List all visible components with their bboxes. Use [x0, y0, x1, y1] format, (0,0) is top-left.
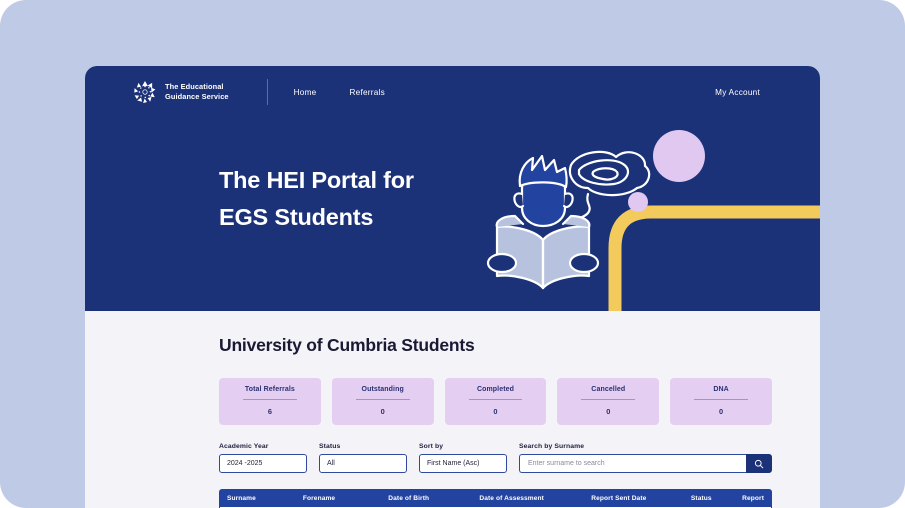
table-header-row: Surname Forename Date of Birth Date of A…	[219, 489, 772, 507]
stat-label: Total Referrals	[229, 386, 311, 393]
status-label: Status	[319, 443, 407, 450]
academic-year-label: Academic Year	[219, 443, 307, 450]
stat-divider	[243, 399, 297, 400]
search-field: Search by Surname Enter surname to searc…	[519, 443, 772, 473]
stat-value: 0	[455, 407, 537, 416]
stat-value: 0	[342, 407, 424, 416]
column-header-surname[interactable]: Surname	[227, 495, 303, 502]
search-button[interactable]	[746, 454, 772, 473]
stat-label: Outstanding	[342, 386, 424, 393]
nav-link-home[interactable]: Home	[294, 88, 317, 97]
stat-card-completed: Completed 0	[445, 378, 547, 425]
stat-label: Cancelled	[567, 386, 649, 393]
search-input[interactable]: Enter surname to search	[519, 454, 746, 473]
stat-card-cancelled: Cancelled 0	[557, 378, 659, 425]
stat-value: 0	[567, 407, 649, 416]
column-header-report[interactable]: Report	[742, 495, 764, 502]
academic-year-select[interactable]: 2024 -2025	[219, 454, 307, 473]
brand-logo-group[interactable]: The Educational Guidance Service	[132, 79, 229, 105]
stat-label: DNA	[680, 386, 762, 393]
column-header-report-sent-date[interactable]: Report Sent Date	[591, 495, 691, 502]
filters-row: Academic Year 2024 -2025 Status All Sort…	[219, 443, 772, 473]
hero-banner: The Educational Guidance Service Home Re…	[85, 66, 820, 311]
sort-by-field: Sort by First Name (Asc)	[419, 443, 507, 473]
nav-divider	[267, 79, 268, 105]
person-reading-book-illustration	[475, 124, 665, 311]
column-header-forename[interactable]: Forename	[303, 495, 388, 502]
stat-value: 0	[680, 407, 762, 416]
stat-card-dna: DNA 0	[670, 378, 772, 425]
stat-divider	[581, 399, 635, 400]
status-select[interactable]: All	[319, 454, 407, 473]
search-group: Enter surname to search	[519, 454, 772, 473]
stats-row: Total Referrals 6 Outstanding 0 Complete…	[219, 378, 772, 425]
status-field: Status All	[319, 443, 407, 473]
stat-card-total-referrals: Total Referrals 6	[219, 378, 321, 425]
content-area: University of Cumbria Students Total Ref…	[85, 311, 820, 508]
sort-by-label: Sort by	[419, 443, 507, 450]
search-icon	[754, 459, 764, 469]
starburst-logo-icon	[132, 79, 158, 105]
stat-card-outstanding: Outstanding 0	[332, 378, 434, 425]
stat-divider	[694, 399, 748, 400]
stat-value: 6	[229, 407, 311, 416]
nav-link-my-account[interactable]: My Account	[715, 88, 760, 97]
nav-links: Home Referrals	[294, 88, 385, 97]
column-header-date-of-birth[interactable]: Date of Birth	[388, 495, 479, 502]
navbar: The Educational Guidance Service Home Re…	[85, 66, 820, 118]
students-table: Surname Forename Date of Birth Date of A…	[219, 489, 772, 508]
stat-divider	[469, 399, 523, 400]
app-window: The Educational Guidance Service Home Re…	[85, 66, 820, 508]
column-header-status[interactable]: Status	[691, 495, 742, 502]
search-label: Search by Surname	[519, 443, 772, 450]
hero-title: The HEI Portal for EGS Students	[219, 162, 414, 236]
academic-year-field: Academic Year 2024 -2025	[219, 443, 307, 473]
stat-divider	[356, 399, 410, 400]
nav-link-referrals[interactable]: Referrals	[349, 88, 384, 97]
stat-label: Completed	[455, 386, 537, 393]
page-title: University of Cumbria Students	[219, 335, 772, 356]
brand-name: The Educational Guidance Service	[165, 82, 229, 102]
screen-frame: The Educational Guidance Service Home Re…	[0, 0, 905, 508]
sort-by-select[interactable]: First Name (Asc)	[419, 454, 507, 473]
column-header-date-of-assessment[interactable]: Date of Assessment	[479, 495, 591, 502]
